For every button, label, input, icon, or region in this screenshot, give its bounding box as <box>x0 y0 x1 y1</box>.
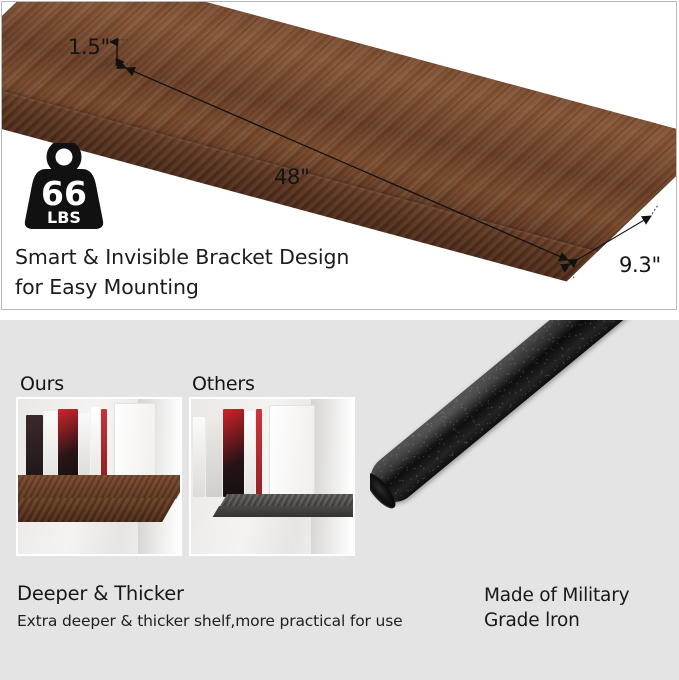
length-dimension-label: 48" <box>274 165 309 189</box>
comparison-label-others: Others <box>192 373 255 395</box>
caption-right-line-1: Made of Military <box>484 583 674 608</box>
photo-ours-shelf <box>16 397 182 556</box>
headline-line-2: for Easy Mounting <box>15 272 495 302</box>
caption-right-line-2: Grade lron <box>484 608 674 633</box>
caption-left-title: Deeper & Thicker <box>17 581 447 607</box>
bottom-panel-comparison: Ours Others <box>0 320 679 680</box>
weight-icon: 66 LBS <box>24 143 104 231</box>
books-group <box>26 407 156 483</box>
ours-shelf-top <box>16 475 182 499</box>
page-headline: Smart & Invisible Bracket Design for Eas… <box>15 242 495 302</box>
others-thin-shelf <box>227 494 355 518</box>
thickness-dimension-label: 1.5" <box>68 35 110 59</box>
iron-rod <box>370 320 661 512</box>
caption-deeper-thicker: Deeper & Thicker Extra deeper & thicker … <box>17 581 447 633</box>
caption-left-subtitle: Extra deeper & thicker shelf,more practi… <box>17 609 447 633</box>
product-infographic: 1.5" 48" 9.3" 66 LBS Smart & Invisible B… <box>0 0 679 680</box>
rod-texture <box>370 320 661 512</box>
books-group <box>193 405 325 497</box>
iron-rod-illustration <box>370 320 679 610</box>
top-panel-shelf-dimensions: 1.5" 48" 9.3" 66 LBS Smart & Invisible B… <box>1 1 677 310</box>
depth-dimension-label: 9.3" <box>619 253 661 277</box>
comparison-label-ours: Ours <box>20 373 64 395</box>
ours-thick-shelf <box>16 475 182 521</box>
caption-military-grade-iron: Made of Military Grade lron <box>484 583 674 633</box>
others-shelf-front <box>213 506 355 517</box>
weight-capacity-badge: 66 LBS <box>24 143 104 231</box>
weight-unit: LBS <box>47 208 81 227</box>
headline-line-1: Smart & Invisible Bracket Design <box>15 242 495 272</box>
photo-others-shelf <box>189 397 355 556</box>
ours-shelf-front <box>16 498 176 522</box>
